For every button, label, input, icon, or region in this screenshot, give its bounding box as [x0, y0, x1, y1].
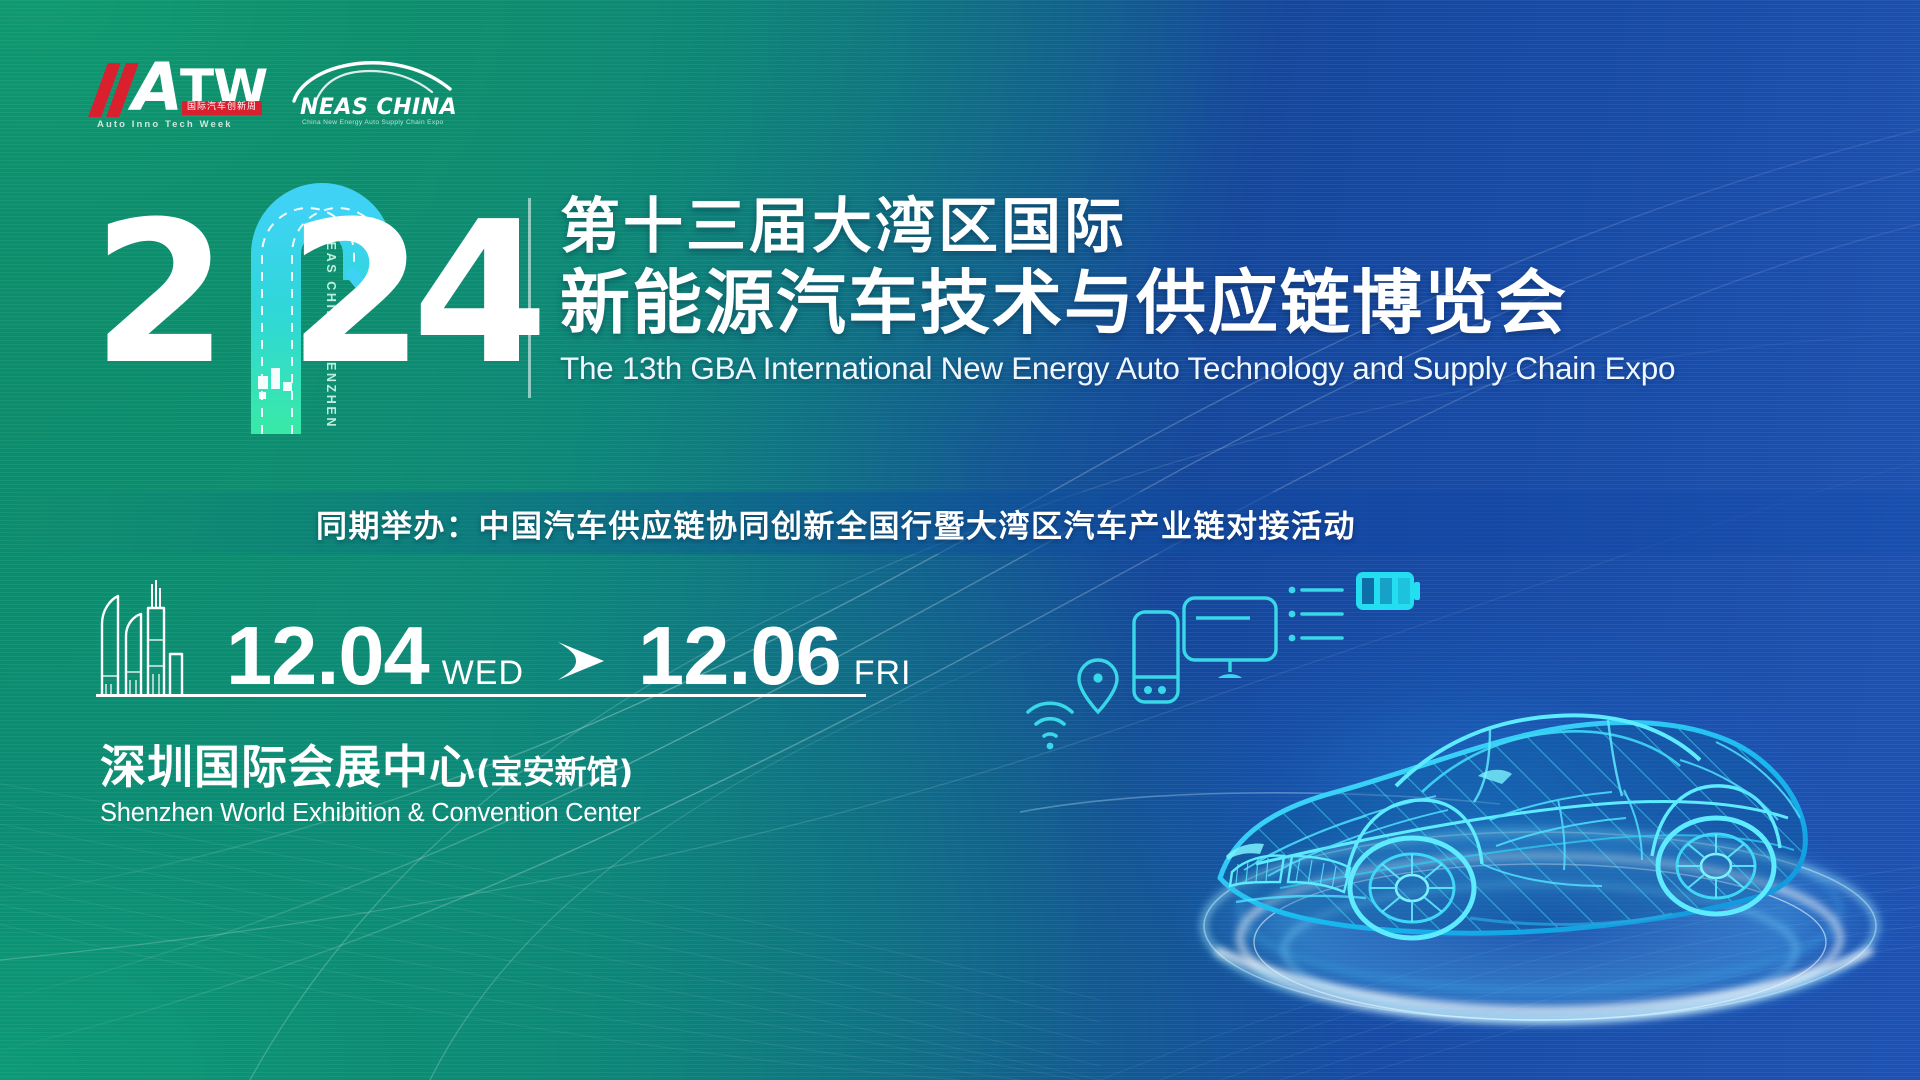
date-start: 12.04 [226, 617, 429, 696]
year-2024-logo: 2 NEAS CHINA SHENZHEN 2 4 [92, 196, 512, 406]
arrow-right-icon [554, 638, 610, 684]
year-digit-1: 2 [92, 196, 220, 392]
battery-icon [1356, 572, 1420, 610]
date-end-day: FRI [854, 654, 912, 693]
location-pin-icon [1079, 660, 1117, 712]
date-row: 12.04 WED 12.06 FRI [96, 580, 912, 696]
atw-cn-badge: 国际汽车创新周 [182, 101, 262, 115]
venue-block: 深圳国际会展中心(宝安新馆) Shenzhen World Exhibition… [100, 742, 641, 828]
sub-banner-text: 同期举办：中国汽车供应链协同创新全国行暨大湾区汽车产业链对接活动 [316, 501, 1356, 546]
title-en-line: The 13th GBA International New Energy Au… [560, 350, 1675, 387]
sub-banner: 同期举办：中国汽车供应链协同创新全国行暨大湾区汽车产业链对接活动 [0, 492, 1920, 554]
title-block: 第十三届大湾区国际 新能源汽车技术与供应链博览会 The 13th GBA In… [560, 196, 1675, 387]
neas-subtitle: China New Energy Auto Supply Chain Expo [302, 119, 444, 126]
neas-china-logo[interactable]: NEAS CHINA China New Energy Auto Supply … [290, 57, 465, 131]
atw-logo[interactable]: A TW 国际汽车创新周 Auto Inno Tech Week [96, 47, 264, 131]
poster-canvas: A TW 国际汽车创新周 Auto Inno Tech Week NEAS CH… [0, 0, 1920, 1080]
city-skyline-icon [96, 580, 204, 696]
year-digit-4: 4 [412, 196, 540, 392]
title-divider-rule [528, 198, 531, 398]
date-values: 12.04 WED 12.06 FRI [226, 617, 912, 696]
date-start-day: WED [442, 654, 524, 693]
title-cn-line2: 新能源汽车技术与供应链博览会 [560, 266, 1675, 340]
neas-wordmark: NEAS CHINA [300, 95, 457, 120]
venue-en: Shenzhen World Exhibition & Convention C… [100, 799, 641, 828]
venue-cn: 深圳国际会展中心(宝安新馆) [100, 742, 641, 793]
title-cn-line1: 第十三届大湾区国际 [560, 196, 1675, 260]
venue-cn-main: 深圳国际会展中心 [100, 740, 476, 794]
atw-tagline: Auto Inno Tech Week [97, 119, 233, 130]
logo-bar: A TW 国际汽车创新周 Auto Inno Tech Week NEAS CH… [96, 47, 465, 131]
wireframe-sports-car-icon [1160, 620, 1920, 1040]
date-underline [96, 694, 866, 697]
date-end: 12.06 [638, 617, 841, 696]
year-digit-3: 2 [288, 196, 416, 392]
venue-cn-paren: (宝安新馆) [476, 753, 633, 791]
